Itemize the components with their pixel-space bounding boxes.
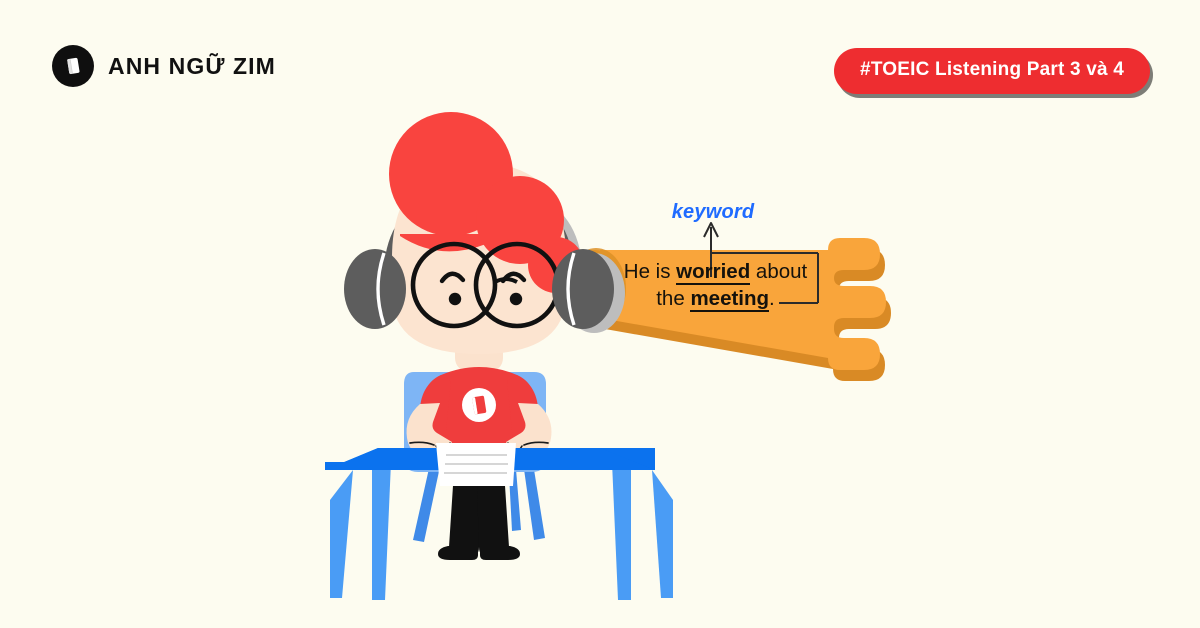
keyword-meeting: meeting xyxy=(690,287,769,312)
desk-back-legs xyxy=(372,462,631,600)
headphone-earcups xyxy=(344,249,614,329)
paper-sheet xyxy=(436,443,516,486)
sentence-part-2: about xyxy=(750,260,807,283)
sentence-part-4: . xyxy=(769,287,775,310)
sentence-part-3: the xyxy=(656,287,690,310)
keyword-worried: worried xyxy=(676,260,750,285)
brand-logo: ANH NGỮ ZIM xyxy=(52,45,276,87)
headphones-back xyxy=(397,193,625,333)
sentence-part-1: He is xyxy=(624,260,676,283)
speech-bubble-text: He is worried about the meeting. xyxy=(608,258,823,312)
chair xyxy=(404,372,546,542)
character-head xyxy=(344,112,614,354)
shirt-logo-icon xyxy=(462,388,496,422)
glasses xyxy=(413,244,558,326)
illustration xyxy=(0,0,1200,628)
topic-badge: #TOEIC Listening Part 3 và 4 xyxy=(834,48,1150,94)
character-body xyxy=(407,322,552,560)
eyes xyxy=(442,274,524,305)
keyword-annotation-label: keyword xyxy=(653,201,773,224)
desk xyxy=(325,448,673,598)
hair xyxy=(389,112,584,293)
brand-name: ANH NGỮ ZIM xyxy=(108,53,276,80)
book-icon xyxy=(52,45,94,87)
poster-canvas: ANH NGỮ ZIM #TOEIC Listening Part 3 và 4 xyxy=(0,0,1200,628)
